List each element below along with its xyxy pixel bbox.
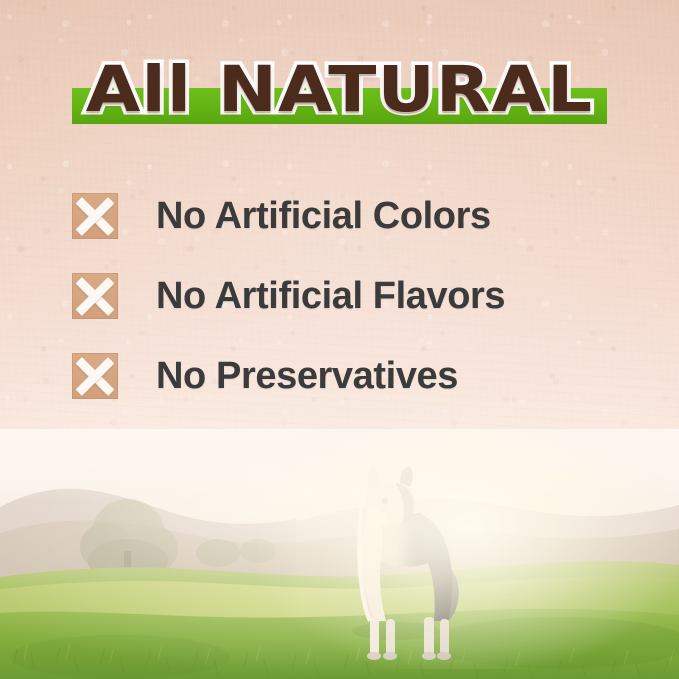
claim-label: No Artificial Colors [156,195,491,237]
list-item: No Artificial Colors [72,176,639,256]
lifestyle-photo [0,429,679,679]
photo-illustration [0,429,679,679]
list-item: No Artificial Flavors [72,256,639,336]
claim-label: No Artificial Flavors [156,275,505,317]
list-item: No Preservatives [72,336,639,416]
claim-label: No Preservatives [156,355,458,397]
product-feature-poster: All NATURAL No Artificial Colors No Arti… [0,0,679,679]
headline-banner: All NATURAL [0,52,679,132]
x-mark-icon [72,273,118,319]
x-mark-icon [72,193,118,239]
page-title-text: All NATURAL [86,52,593,128]
page-title: All NATURAL [0,52,679,128]
x-mark-icon [72,353,118,399]
